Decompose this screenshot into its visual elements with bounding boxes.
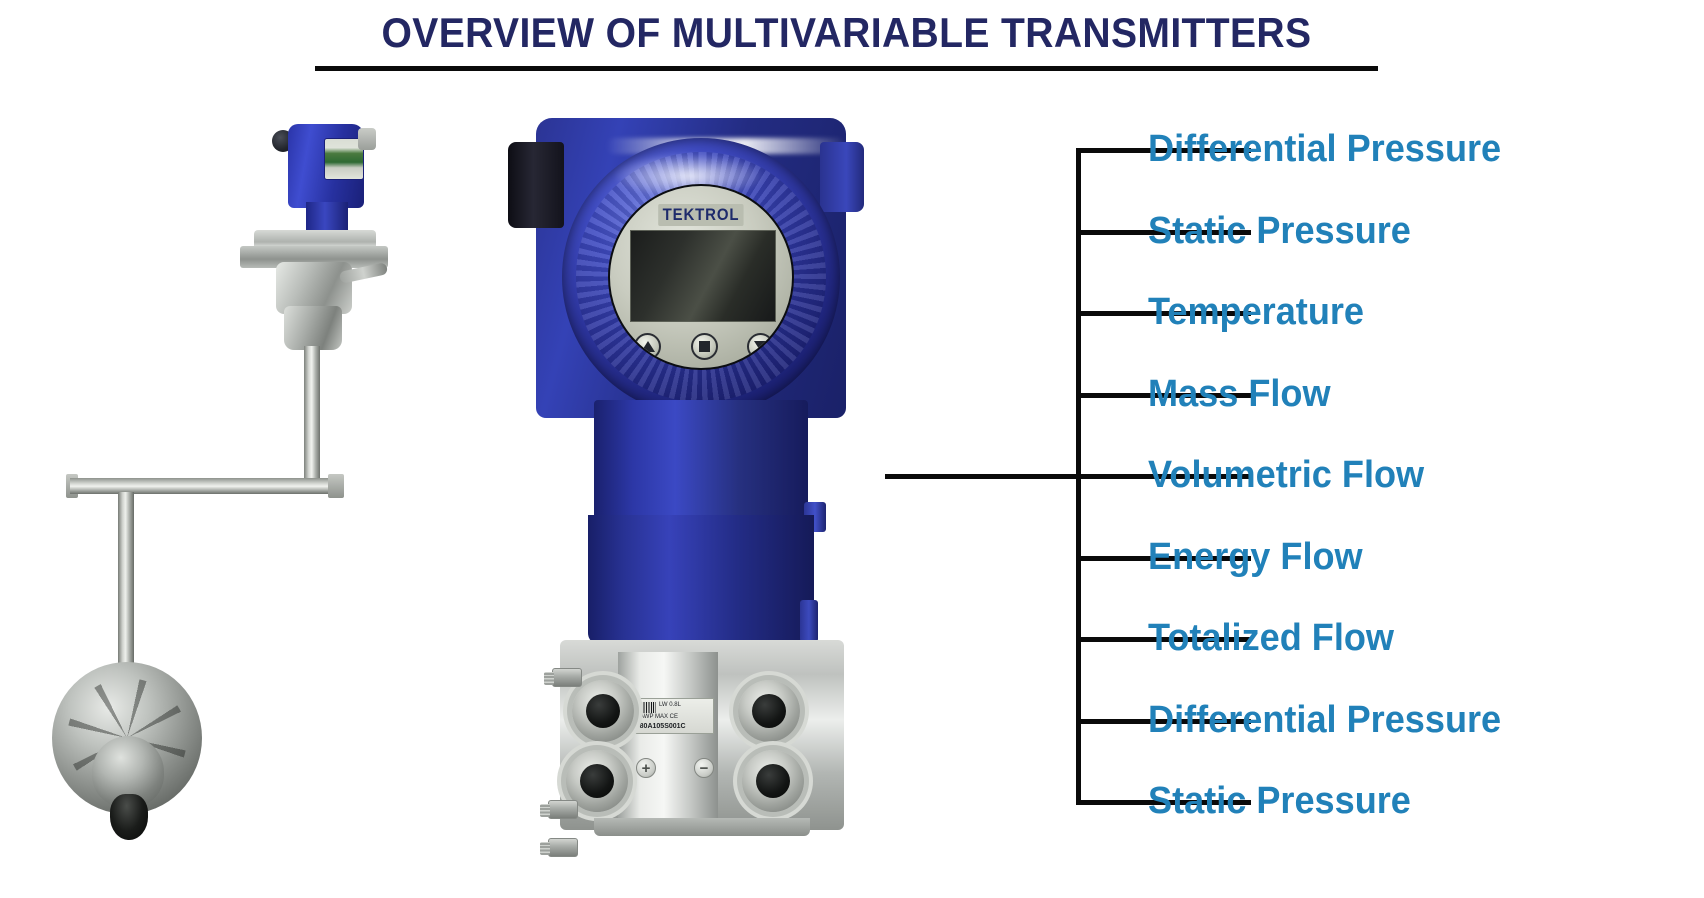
probe-packing-gland [284, 306, 342, 350]
manifold-bolt-2 [548, 800, 578, 819]
infographic-page: OVERVIEW OF MULTIVARIABLE TRANSMITTERS [0, 0, 1704, 898]
transmitter-conduit-port-left [508, 142, 564, 228]
set-button[interactable] [691, 333, 718, 360]
callout-label-5: Volumetric Flow [1148, 455, 1424, 495]
process-port-top-right [738, 680, 800, 742]
keypad [634, 333, 774, 360]
probe-bore [110, 794, 148, 840]
page-title: OVERVIEW OF MULTIVARIABLE TRANSMITTERS [352, 4, 1341, 62]
high-pressure-port-marking: + [636, 758, 656, 778]
callout-label-9: Static Pressure [1148, 781, 1411, 821]
callout-label-2: Static Pressure [1148, 211, 1411, 251]
low-pressure-port-marking: − [694, 758, 714, 778]
callout-label-3: Temperature [1148, 292, 1364, 332]
callout-bracket: Differential PressureStatic PressureTemp… [880, 110, 1704, 870]
callout-label-7: Totalized Flow [1148, 618, 1394, 658]
device-probe-flow-meter [40, 100, 380, 840]
brand-logo: TEKTROL [658, 204, 744, 226]
down-button[interactable] [747, 333, 774, 360]
up-button[interactable] [634, 333, 661, 360]
nameplate-line-3: P80A105S001C [635, 723, 686, 730]
transmitter-faceplate: TEKTROL [608, 184, 794, 370]
callout-label-8: Differential Pressure [1148, 700, 1501, 740]
barcode-icon [634, 702, 656, 713]
device-multivariable-transmitter: TEKTROL LW 0.8L MAWP MA [490, 100, 890, 830]
process-port-bottom-right [742, 750, 804, 812]
nameplate-line-2: MAWP MAX CE [635, 714, 678, 720]
probe-side-cap-icon [358, 128, 376, 150]
port-bore [752, 694, 786, 728]
triangle-down-icon [754, 341, 768, 352]
transmitter-conduit-port-right [820, 142, 864, 212]
triangle-up-icon [641, 341, 655, 352]
lcd-screen [630, 230, 776, 322]
manifold-center-barrel [618, 652, 718, 822]
square-icon [699, 341, 710, 352]
title-underline-rule [315, 66, 1378, 71]
manifold-bolt-3 [548, 838, 578, 857]
manifold-base [594, 818, 810, 836]
callout-label-4: Mass Flow [1148, 374, 1331, 414]
process-port-top-left [572, 680, 634, 742]
manifold-nameplate: LW 0.8L MAWP MAX CE P80A105S001C [630, 698, 714, 734]
port-bore [580, 764, 614, 798]
transmitter-electronics-body [588, 515, 814, 645]
port-bore [586, 694, 620, 728]
probe-crossbar [70, 478, 342, 494]
callout-label-6: Energy Flow [1148, 537, 1363, 577]
probe-upper-stem [304, 346, 320, 494]
title-block: OVERVIEW OF MULTIVARIABLE TRANSMITTERS [315, 4, 1378, 72]
port-bore [756, 764, 790, 798]
transmitter-vent-right-lower [800, 600, 818, 642]
manifold-bolt-1 [552, 668, 582, 687]
nameplate-line-1: LW 0.8L [659, 702, 681, 708]
probe-crossbar-end-cap-right [328, 474, 344, 498]
callout-label-1: Differential Pressure [1148, 129, 1501, 169]
